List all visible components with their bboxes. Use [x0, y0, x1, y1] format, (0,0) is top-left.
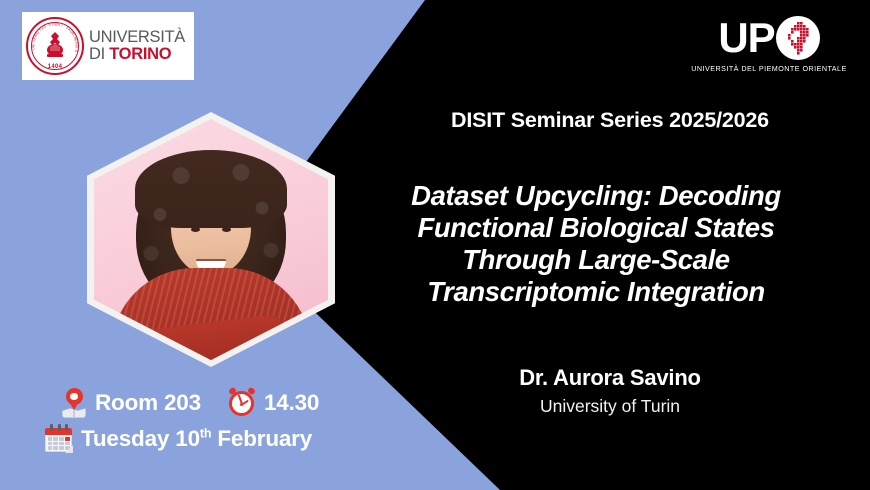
- upo-letters: UP: [718, 16, 774, 60]
- date-day: Tuesday 10: [81, 426, 200, 451]
- upo-subtitle: UNIVERSITÀ DEL PIEMONTE ORIENTALE: [684, 64, 854, 73]
- page-title: Dataset Upcycling: Decoding Functional B…: [332, 180, 860, 308]
- upo-o-circle: [776, 16, 820, 60]
- date-ordinal: th: [200, 427, 211, 441]
- seminar-poster: 1404 UNIVERSITAS STUDII TAURINENSIS UNIV…: [0, 0, 870, 490]
- unito-line1: UNIVERSITÀ: [89, 28, 185, 46]
- room-label: Room 203: [95, 390, 201, 416]
- calendar-icon: [44, 424, 74, 454]
- date-month: February: [211, 426, 312, 451]
- time-label: 14.30: [264, 390, 319, 416]
- location-pin-icon: [60, 388, 88, 418]
- unito-seal-microtext: UNIVERSITAS STUDII TAURINENSIS: [26, 17, 84, 75]
- title-line-1: Dataset Upcycling: Decoding: [332, 180, 860, 212]
- unito-seal-icon: 1404 UNIVERSITAS STUDII TAURINENSIS: [26, 17, 84, 75]
- title-line-3: Through Large-Scale: [332, 244, 860, 276]
- speaker-affiliation: University of Turin: [380, 396, 840, 417]
- event-details: Room 203 14.30: [60, 386, 319, 456]
- seminar-series-heading: DISIT Seminar Series 2025/2026: [370, 108, 850, 133]
- upo-logo: UP: [684, 16, 854, 80]
- piemonte-map-icon: [785, 21, 813, 55]
- unito-line2-di: DI: [89, 45, 109, 63]
- title-line-4: Transcriptomic Integration: [332, 276, 860, 308]
- speaker-photo: [87, 112, 335, 367]
- clock-icon: [227, 388, 257, 418]
- speaker-name: Dr. Aurora Savino: [380, 365, 840, 391]
- title-line-2: Functional Biological States: [332, 212, 860, 244]
- date-label: Tuesday 10th February: [81, 426, 312, 452]
- event-details-row-date: Tuesday 10th February: [44, 422, 319, 456]
- unito-wordmark: UNIVERSITÀ DI TORINO: [89, 29, 185, 64]
- unito-line2-torino: TORINO: [109, 45, 171, 63]
- unito-logo: 1404 UNIVERSITAS STUDII TAURINENSIS UNIV…: [22, 12, 194, 80]
- event-details-row-location-time: Room 203 14.30: [60, 386, 319, 420]
